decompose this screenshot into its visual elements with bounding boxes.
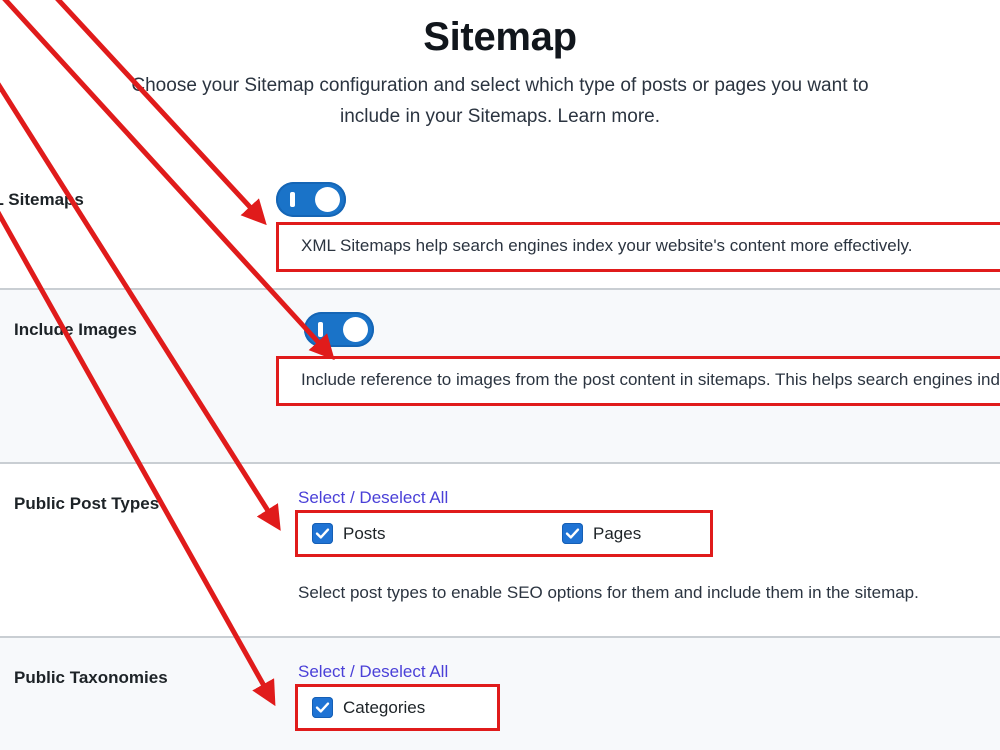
settings-row-public-post-types: Public Post Types Select / Deselect All … <box>0 464 1000 638</box>
toggle-include-images[interactable] <box>304 312 374 347</box>
row-control-include-images: Include reference to images from the pos… <box>268 290 1000 365</box>
row-label-public-taxonomies: Public Taxonomies <box>0 638 268 688</box>
checkbox-group-post-types-highlight-box: Posts Pages <box>295 510 713 557</box>
select-deselect-all-taxonomies[interactable]: Select / Deselect All <box>298 660 448 684</box>
description-xml-sitemaps-highlight-box: XML Sitemaps help search engines index y… <box>276 222 1000 272</box>
toggle-knob-icon <box>343 317 368 342</box>
description-xml-sitemaps: XML Sitemaps help search engines index y… <box>301 236 912 255</box>
page-subtitle-text: Choose your Sitemap configuration and se… <box>131 75 868 127</box>
checkbox-posts[interactable] <box>312 523 333 544</box>
checkbox-item-categories[interactable]: Categories <box>312 697 425 718</box>
select-deselect-all-post-types[interactable]: Select / Deselect All <box>298 486 448 510</box>
checkbox-categories[interactable] <box>312 697 333 718</box>
learn-more-link[interactable]: Learn more. <box>558 106 660 127</box>
checkbox-label-categories: Categories <box>343 698 425 718</box>
toggle-xml-sitemaps[interactable] <box>276 182 346 217</box>
page-header: Sitemap Choose your Sitemap configuratio… <box>0 0 1000 132</box>
row-control-xml-sitemaps: XML Sitemaps help search engines index y… <box>268 160 1000 235</box>
checkbox-item-posts[interactable]: Posts <box>312 523 562 544</box>
row-control-public-post-types: Select / Deselect All Posts <box>268 464 1000 528</box>
toggle-bar-icon <box>318 322 323 337</box>
page-subtitle: Choose your Sitemap configuration and se… <box>100 70 900 132</box>
row-label-public-post-types: Public Post Types <box>0 464 268 514</box>
toggle-knob-icon <box>315 187 340 212</box>
description-include-images: Include reference to images from the pos… <box>301 370 1000 389</box>
settings-table: XML Sitemaps XML Sitemaps help search en… <box>0 160 1000 750</box>
checkbox-label-pages: Pages <box>593 524 641 544</box>
description-public-post-types: Select post types to enable SEO options … <box>298 578 1000 608</box>
settings-row-public-taxonomies: Public Taxonomies Select / Deselect All … <box>0 638 1000 750</box>
checkbox-item-pages[interactable]: Pages <box>562 523 641 544</box>
row-control-public-taxonomies: Select / Deselect All Categories <box>268 638 1000 702</box>
toggle-bar-icon <box>290 192 295 207</box>
sitemap-settings-screen: Sitemap Choose your Sitemap configuratio… <box>0 0 1000 750</box>
checkbox-group-taxonomies-highlight-box: Categories <box>295 684 500 731</box>
description-include-images-highlight-box: Include reference to images from the pos… <box>276 356 1000 406</box>
row-label-xml-sitemaps: XML Sitemaps <box>0 160 268 210</box>
checkbox-label-posts: Posts <box>343 524 386 544</box>
checkbox-pages[interactable] <box>562 523 583 544</box>
page-title: Sitemap <box>0 12 1000 62</box>
row-label-include-images: Include Images <box>0 290 268 340</box>
settings-row-xml-sitemaps: XML Sitemaps XML Sitemaps help search en… <box>0 160 1000 290</box>
settings-row-include-images: Include Images Include reference to imag… <box>0 290 1000 464</box>
